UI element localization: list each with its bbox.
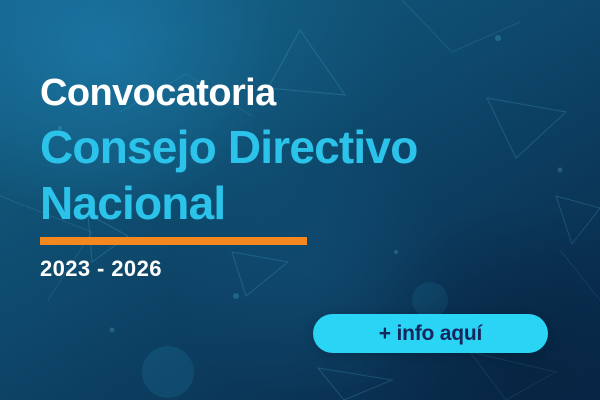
banner-title-line-2: Nacional — [40, 180, 225, 226]
banner-content: Convocatoria Consejo Directivo Nacional … — [0, 0, 600, 400]
accent-rule — [40, 237, 307, 245]
banner-period: 2023 - 2026 — [40, 258, 162, 280]
promo-banner: Convocatoria Consejo Directivo Nacional … — [0, 0, 600, 400]
banner-title-line-1: Consejo Directivo — [40, 124, 418, 170]
more-info-button[interactable]: + info aquí — [313, 314, 548, 353]
banner-eyebrow: Convocatoria — [40, 74, 276, 112]
